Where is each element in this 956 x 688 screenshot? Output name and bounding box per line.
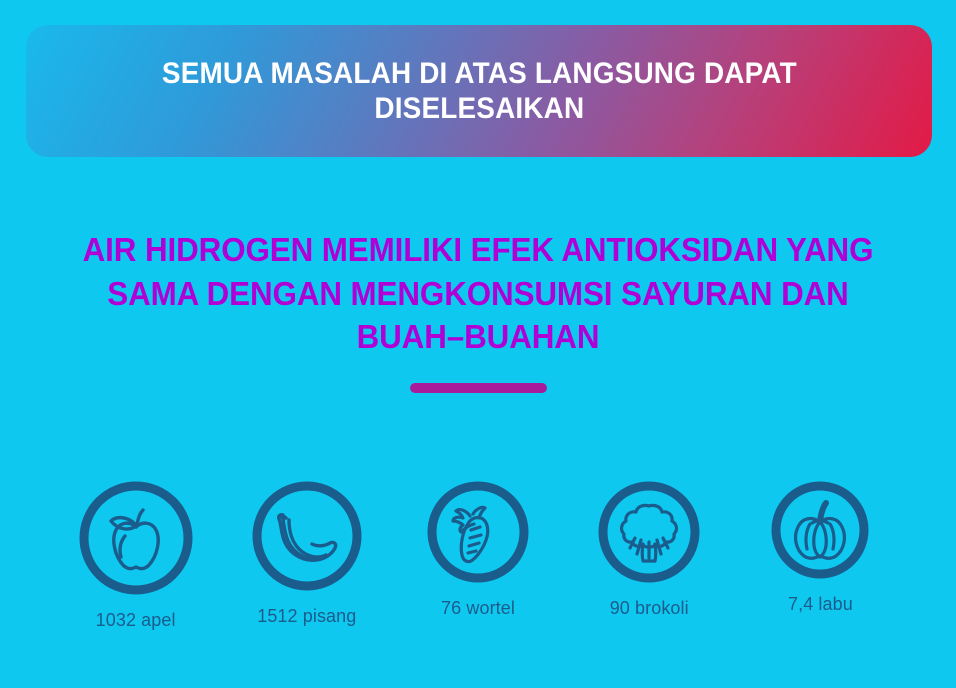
divider-container: [0, 383, 956, 393]
icon-label-banana: 1512 pisang: [257, 606, 356, 627]
pumpkin-icon: [770, 480, 870, 580]
header-banner: SEMUA MASALAH DI ATAS LANGSUNG DAPAT DIS…: [26, 25, 932, 157]
icon-cell-pumpkin: 7,4 labu: [735, 480, 906, 615]
carrot-icon: [426, 480, 530, 584]
icon-cell-apple: 1032 apel: [50, 480, 221, 631]
icon-cell-carrot: 76 wortel: [392, 480, 563, 619]
banner-title: SEMUA MASALAH DI ATAS LANGSUNG DAPAT DIS…: [162, 56, 797, 126]
icon-row: 1032 apel 1512 pisang: [50, 480, 906, 631]
icon-cell-banana: 1512 pisang: [221, 480, 392, 627]
slide-canvas: SEMUA MASALAH DI ATAS LANGSUNG DAPAT DIS…: [0, 0, 956, 688]
apple-icon: [78, 480, 194, 596]
headline-text: AIR HIDROGEN MEMILIKI EFEK ANTIOKSIDAN Y…: [24, 228, 932, 359]
icon-label-broccoli: 90 brokoli: [610, 598, 689, 619]
icon-label-pumpkin: 7,4 labu: [788, 594, 853, 615]
divider-bar: [410, 383, 547, 393]
banana-icon: [251, 480, 363, 592]
icon-cell-broccoli: 90 brokoli: [564, 480, 735, 619]
icon-label-apple: 1032 apel: [96, 610, 176, 631]
broccoli-icon: [597, 480, 701, 584]
icon-label-carrot: 76 wortel: [441, 598, 515, 619]
